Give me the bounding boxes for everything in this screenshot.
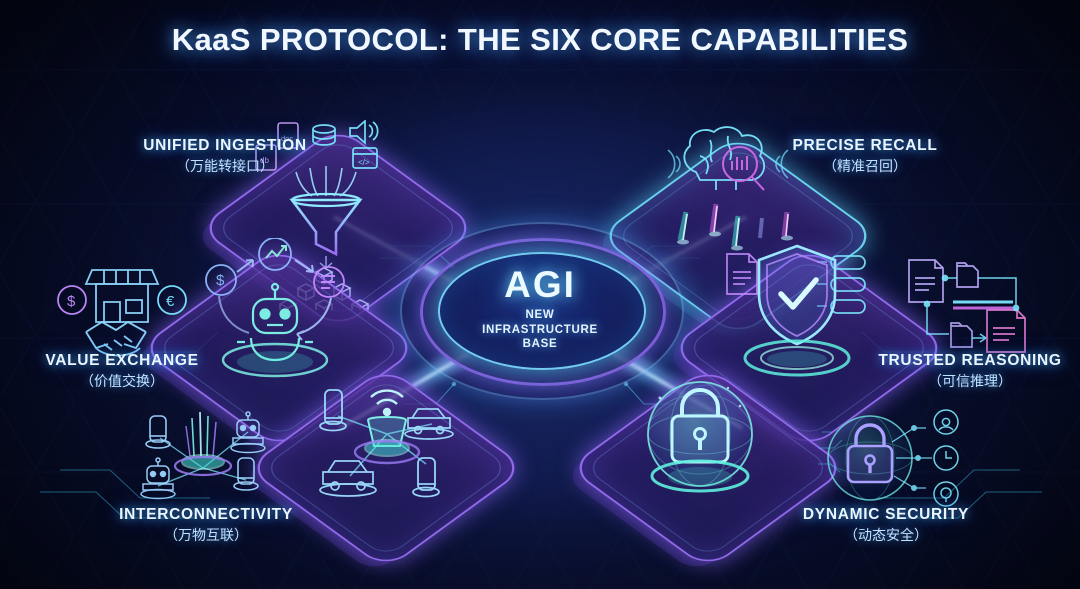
infographic-canvas: KaaS PROTOCOL: THE SIX CORE CAPABILITIES	[0, 0, 1080, 589]
label-unified-ingestion: UNIFIED INGESTION （万能转接口）	[125, 137, 325, 175]
svg-text:</>: </>	[358, 158, 370, 167]
label-unified-ingestion-cn: （万能转接口）	[125, 158, 325, 175]
hub-subtitle-line1: NEW	[482, 308, 598, 322]
hub-subtitle-line2: INFRASTRUCTURE	[482, 323, 598, 337]
padlock-sphere-icon	[600, 372, 790, 552]
label-unified-ingestion-en: UNIFIED INGESTION	[125, 137, 325, 156]
page-title: KaaS PROTOCOL: THE SIX CORE CAPABILITIES	[0, 22, 1080, 58]
hub-text-block: AGI NEW INFRASTRUCTURE BASE	[438, 252, 642, 366]
padlock-policy-icon	[818, 408, 968, 508]
node-interconnectivity[interactable]	[292, 372, 482, 552]
label-precise-recall-cn: （精准召回）	[760, 158, 970, 175]
label-trusted-reasoning-en: TRUSTED REASONING	[862, 352, 1078, 371]
label-interconnectivity-cn: （万物互联）	[100, 527, 312, 544]
hub-subtitle-line3: BASE	[482, 337, 598, 351]
label-interconnectivity-en: INTERCONNECTIVITY	[100, 506, 312, 525]
label-dynamic-security: DYNAMIC SECURITY （动态安全）	[788, 506, 984, 544]
label-trusted-reasoning-cn: （可信推理）	[862, 373, 1078, 390]
label-dynamic-security-cn: （动态安全）	[788, 527, 984, 544]
label-interconnectivity: INTERCONNECTIVITY （万物互联）	[100, 506, 312, 544]
svg-text:€: €	[166, 293, 175, 310]
node-dynamic-security[interactable]	[600, 372, 790, 552]
label-value-exchange-en: VALUE EXCHANGE	[22, 352, 222, 371]
label-trusted-reasoning: TRUSTED REASONING （可信推理）	[862, 352, 1078, 390]
label-precise-recall-en: PRECISE RECALL	[760, 137, 970, 156]
wifi-hub-devices-icon	[292, 372, 482, 552]
document-flow-icon	[895, 252, 1035, 362]
hub-title: AGI	[504, 266, 576, 303]
svg-text:$: $	[216, 272, 225, 289]
label-precise-recall: PRECISE RECALL （精准召回）	[760, 137, 970, 175]
label-value-exchange-cn: （价值交换）	[22, 373, 222, 390]
hologram-network-icon	[128, 408, 278, 508]
storefront-handshake-icon: $ €	[52, 252, 192, 362]
label-dynamic-security-en: DYNAMIC SECURITY	[788, 506, 984, 525]
hub-subtitle: NEW INFRASTRUCTURE BASE	[482, 308, 598, 351]
svg-text:$: $	[67, 293, 76, 310]
label-value-exchange: VALUE EXCHANGE （价值交换）	[22, 352, 222, 390]
agi-core-hub[interactable]: AGI NEW INFRASTRUCTURE BASE	[404, 228, 676, 390]
